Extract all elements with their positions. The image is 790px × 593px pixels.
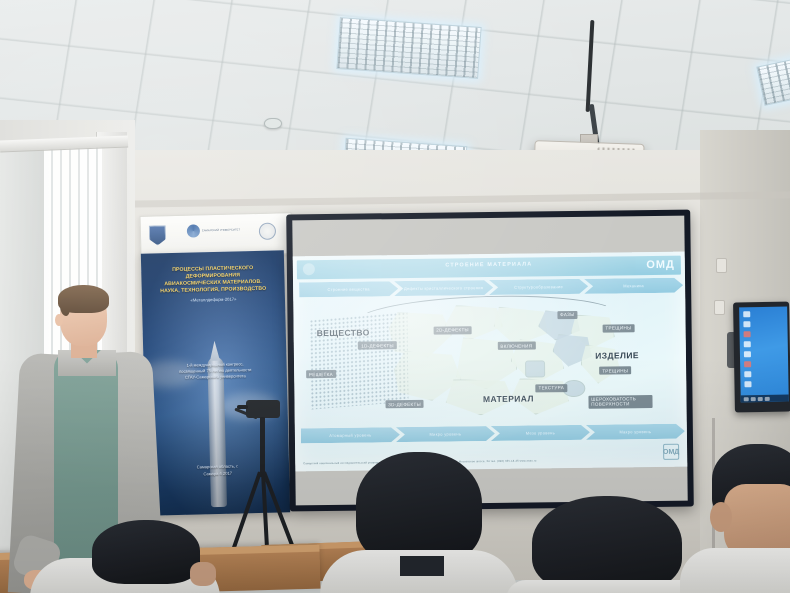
- monitor-taskbar[interactable]: [741, 395, 789, 403]
- grain-cell: [445, 305, 503, 340]
- slide-header-title: СТРОЕНИЕ МАТЕРИАЛА: [297, 260, 681, 271]
- audience-member: [516, 496, 706, 593]
- taskbar-button[interactable]: [758, 396, 763, 400]
- slide-header: СТРОЕНИЕ МАТЕРИАЛА ОМД: [297, 256, 681, 280]
- audience-hair: [92, 520, 200, 584]
- seal-icon: [259, 223, 276, 240]
- ribbon-step: Дефекты кристаллического строения: [394, 280, 493, 296]
- wall-socket[interactable]: [714, 300, 725, 315]
- ribbon-step: Микро уровень: [396, 426, 495, 442]
- taskbar-button[interactable]: [751, 397, 756, 401]
- audience-member: [688, 444, 790, 593]
- light-louvre-icon: [337, 18, 480, 78]
- desktop-icon[interactable]: [744, 351, 751, 357]
- presenter-hair: [58, 285, 109, 313]
- taskbar-button[interactable]: [744, 397, 749, 401]
- diagram-tag-phases: ФАЗЫ: [557, 311, 578, 319]
- ribbon-step-label: Структурообразование: [510, 284, 567, 290]
- tripod-column: [260, 417, 265, 477]
- university-logo: САМАРСКИЙ УНИВЕРСИТЕТ: [187, 223, 241, 237]
- slide-bottom-ribbon: Атомарный уровень Микро уровень Мезо уро…: [301, 424, 681, 444]
- classroom-photo: САМАРСКИЙ УНИВЕРСИТЕТ ПРОЦЕССЫ ПЛАСТИЧЕС…: [0, 0, 790, 593]
- grain-cell: [389, 312, 452, 358]
- diagram-tag-lattice: РЕШЕТКА: [306, 370, 336, 378]
- ribbon-step-label: Механика: [619, 283, 648, 288]
- desktop-icon[interactable]: [744, 381, 751, 387]
- desktop-icon[interactable]: [744, 371, 751, 377]
- desktop-icon[interactable]: [743, 321, 750, 327]
- ribbon-step: Механика: [584, 278, 683, 294]
- desktop-icon-column: [743, 311, 760, 391]
- wall-monitor[interactable]: [733, 302, 790, 413]
- ribbon-step-label: Мезо уровень: [522, 430, 559, 435]
- audience-hair: [356, 452, 482, 564]
- ribbon-step: Структурообразование: [489, 279, 588, 295]
- university-logo-icon: [187, 224, 200, 237]
- tripod-leg: [229, 471, 261, 556]
- light-louvre-icon: [757, 59, 790, 104]
- audience-shirt: [680, 548, 790, 593]
- diagram-heading-material: МАТЕРИАЛ: [483, 394, 534, 405]
- camera-tripod[interactable]: [218, 400, 308, 560]
- inclusion-particle: [525, 360, 546, 377]
- slide-footer-logo: ОМД: [663, 444, 679, 460]
- audience-member: [346, 452, 506, 593]
- desktop-icon[interactable]: [744, 361, 751, 367]
- diagram-tag-3d-defects: 3D-ДЕФЕКТЫ: [385, 400, 424, 408]
- desktop-icon[interactable]: [743, 311, 750, 317]
- taskbar-button[interactable]: [765, 396, 770, 400]
- audience-member: [30, 520, 220, 593]
- ribbon-step-label: Макро уровень: [615, 429, 655, 434]
- university-logo-text: САМАРСКИЙ УНИВЕРСИТЕТ: [202, 228, 240, 232]
- conference-seal-icon: [259, 223, 276, 240]
- ribbon-step-label: Строение вещества: [323, 286, 373, 292]
- diagram-tag-2d-defects: 2D-ДЕФЕКТЫ: [433, 326, 472, 334]
- diagram-tag-texture: ТЕКСТУРА: [535, 384, 567, 392]
- audience-ear: [710, 502, 732, 532]
- slide-content: СТРОЕНИЕ МАТЕРИАЛА ОМД Строение вещества…: [293, 252, 688, 472]
- ribbon-step-label: Дефекты кристаллического строения: [400, 285, 487, 291]
- ribbon-step: Мезо уровень: [491, 425, 590, 441]
- omd-logo: ОМД: [646, 259, 675, 271]
- presenter-ear: [55, 314, 63, 326]
- ribbon-step: Строение вещества: [299, 281, 398, 297]
- material-structure-diagram: ВЕЩЕСТВО МАТЕРИАЛ ИЗДЕЛИЕ 1D-ДЕФЕКТЫ 2D-…: [301, 298, 678, 421]
- diagram-tag-cracks: ТРЕЩИНЫ: [602, 324, 634, 332]
- diagram-heading-substance: ВЕЩЕСТВО: [317, 327, 370, 338]
- ribbon-step-label: Микро уровень: [425, 431, 465, 436]
- regional-crest-icon: [149, 225, 166, 245]
- audience-ear: [190, 562, 216, 586]
- diagram-tag-1d-defects: 1D-ДЕФЕКТЫ: [358, 341, 397, 349]
- desktop-icon[interactable]: [744, 341, 751, 347]
- diagram-tag-surface-roughness: ШЕРОХОВАТОСТЬ ПОВЕРХНОСТИ: [588, 395, 652, 409]
- ribbon-step: Атомарный уровень: [301, 427, 400, 443]
- ribbon-step: Макро уровень: [586, 424, 685, 440]
- audience-neck: [400, 556, 444, 576]
- audience-hair: [532, 496, 682, 593]
- wall-socket[interactable]: [716, 258, 727, 273]
- ribbon-step-label: Атомарный уровень: [325, 432, 375, 438]
- ceiling-light-panel: [336, 17, 481, 79]
- smoke-detector-icon: [264, 118, 282, 129]
- diagram-tag-cracks-2: ТРЕЩИНЫ: [599, 367, 631, 375]
- desktop-icon[interactable]: [744, 331, 751, 337]
- monitor-desktop[interactable]: [739, 307, 789, 403]
- crest-icon: [149, 225, 166, 245]
- diagram-tag-inclusions: ВКЛЮЧЕНИЯ: [497, 342, 535, 350]
- diagram-heading-product: ИЗДЕЛИЕ: [595, 350, 639, 361]
- slide-top-ribbon: Строение вещества Дефекты кристаллическо…: [299, 278, 679, 298]
